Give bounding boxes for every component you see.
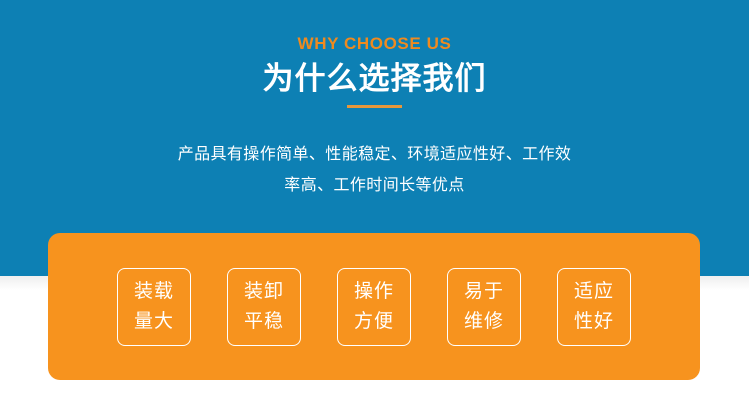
feature-panel: 装载 量大 装卸 平稳 操作 方便 易于 维修 适应 性好	[48, 233, 700, 380]
feature-card-2-line-1: 装卸	[244, 277, 284, 307]
feature-card-4-line-1: 易于	[464, 277, 504, 307]
hero-description: 产品具有操作简单、性能稳定、环境适应性好、工作效 率高、工作时间长等优点	[120, 139, 629, 201]
hero-description-line-2: 率高、工作时间长等优点	[120, 170, 629, 201]
feature-card-2[interactable]: 装卸 平稳	[227, 268, 301, 346]
feature-card-1[interactable]: 装载 量大	[117, 268, 191, 346]
feature-card-5-line-1: 适应	[574, 277, 614, 307]
feature-card-3[interactable]: 操作 方便	[337, 268, 411, 346]
feature-card-3-line-2: 方便	[354, 307, 394, 337]
section-eyebrow: WHY CHOOSE US	[0, 34, 749, 54]
feature-card-4[interactable]: 易于 维修	[447, 268, 521, 346]
feature-card-5[interactable]: 适应 性好	[557, 268, 631, 346]
feature-card-4-line-2: 维修	[464, 307, 504, 337]
title-divider	[347, 105, 402, 108]
promo-banner: WHY CHOOSE US 为什么选择我们 产品具有操作简单、性能稳定、环境适应…	[0, 0, 749, 403]
feature-card-1-line-1: 装载	[134, 277, 174, 307]
feature-card-1-line-2: 量大	[134, 307, 174, 337]
feature-card-3-line-1: 操作	[354, 277, 394, 307]
hero-description-line-1: 产品具有操作简单、性能稳定、环境适应性好、工作效	[120, 139, 629, 170]
feature-card-5-line-2: 性好	[574, 307, 614, 337]
page-title: 为什么选择我们	[0, 58, 749, 100]
feature-card-row: 装载 量大 装卸 平稳 操作 方便 易于 维修 适应 性好	[48, 233, 700, 380]
feature-card-2-line-2: 平稳	[244, 307, 284, 337]
